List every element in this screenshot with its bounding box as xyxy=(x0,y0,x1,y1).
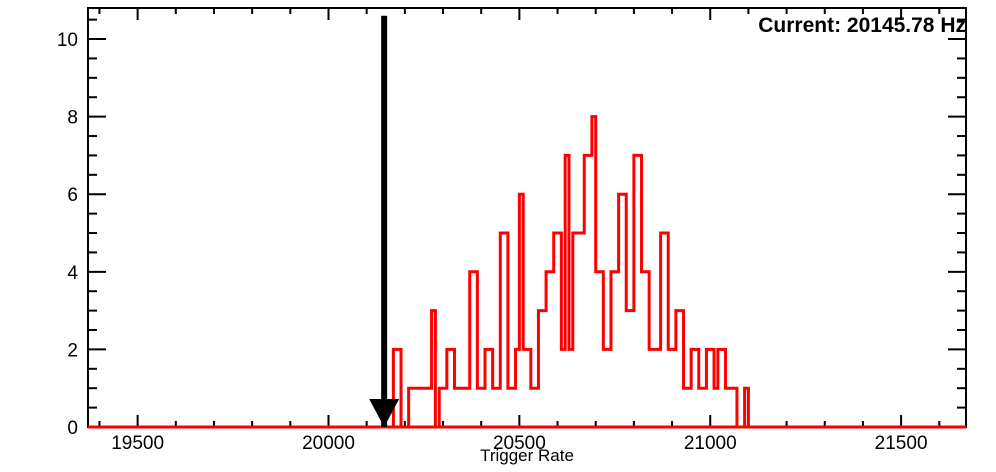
y-axis-ticks xyxy=(88,20,966,427)
y-tick-label: 0 xyxy=(67,418,78,439)
x-tick-label: 21500 xyxy=(875,433,928,454)
x-axis-title: Trigger Rate xyxy=(480,446,574,465)
x-tick-label: 19500 xyxy=(111,433,164,454)
y-tick-label: 8 xyxy=(67,108,78,129)
current-value-label: Current: 20145.78 Hz xyxy=(758,14,966,38)
histogram-series xyxy=(88,117,966,427)
y-axis-tick-labels: 0246810 xyxy=(57,30,79,439)
plot-canvas: 1950020000205002100021500 0246810 Trigge… xyxy=(0,0,996,472)
x-tick-label: 20000 xyxy=(302,433,355,454)
y-tick-label: 10 xyxy=(57,30,78,51)
plot-frame xyxy=(88,8,966,427)
y-tick-label: 4 xyxy=(67,263,78,284)
x-tick-label: 21000 xyxy=(684,433,737,454)
y-tick-label: 2 xyxy=(67,340,78,361)
y-tick-label: 6 xyxy=(67,185,78,206)
trigger-rate-histogram: 1950020000205002100021500 0246810 Trigge… xyxy=(0,0,996,472)
histogram-outline xyxy=(382,117,775,427)
